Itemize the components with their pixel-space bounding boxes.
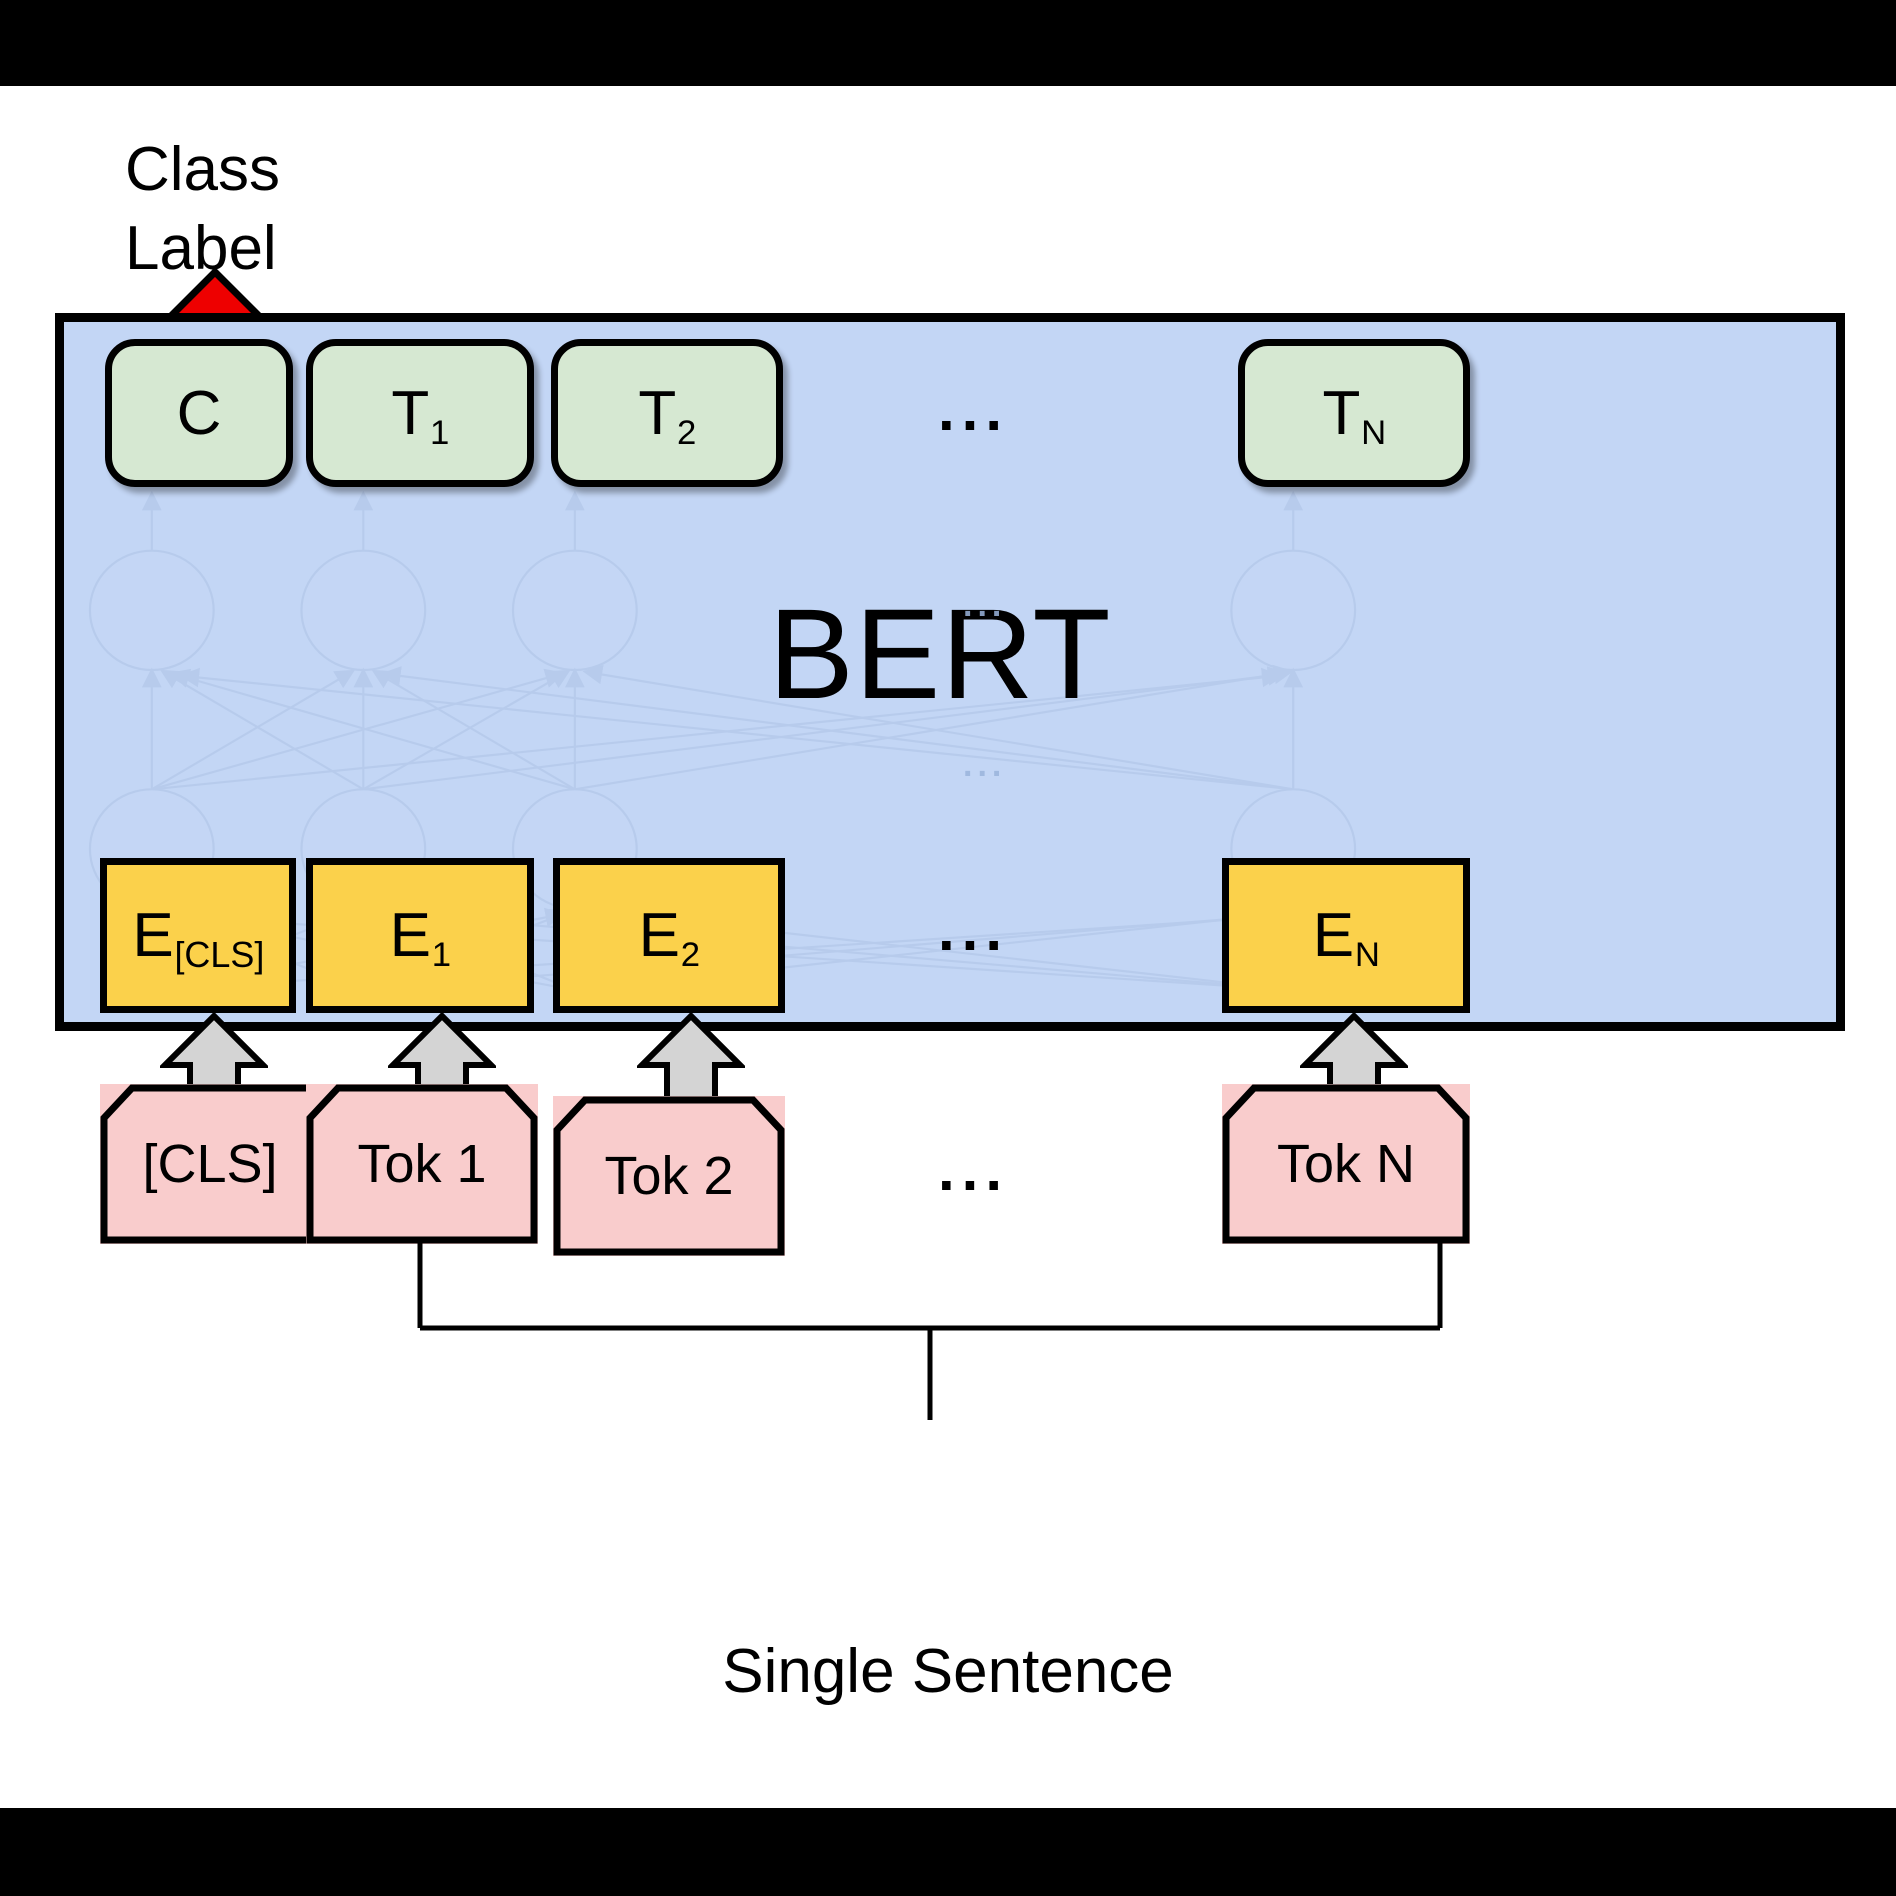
output-token-label: T1 — [391, 378, 448, 449]
input-token-box-tokn[interactable]: Tok N — [1222, 1084, 1470, 1244]
input-token-label: [CLS] — [142, 1133, 277, 1195]
input-row-ellipsis-icon: ... — [938, 1140, 1009, 1200]
output-token-label: C — [177, 378, 222, 449]
network-ellipsis-lower-icon: ... — [963, 748, 1006, 782]
output-token-box-tn[interactable]: TN — [1238, 339, 1470, 487]
output-token-box-t2[interactable]: T2 — [551, 339, 783, 487]
input-token-box-cls[interactable]: [CLS] — [100, 1084, 320, 1244]
grey-up-arrow-icon — [637, 1013, 745, 1103]
figure-canvas: Class Label — [0, 0, 1896, 1896]
embedding-box-1[interactable]: E1 — [306, 858, 534, 1013]
output-token-label: TN — [1323, 378, 1386, 449]
input-token-label: Tok 2 — [604, 1145, 733, 1207]
embedding-label: E[CLS] — [132, 900, 263, 971]
embedding-box-n[interactable]: EN — [1222, 858, 1470, 1013]
output-token-box-t1[interactable]: T1 — [306, 339, 534, 487]
embedding-label: E2 — [639, 900, 700, 971]
embedding-box-cls[interactable]: E[CLS] — [100, 858, 296, 1013]
output-row-ellipsis-icon: ... — [938, 380, 1009, 440]
class-label-text: Class Label — [125, 130, 545, 289]
embedding-box-2[interactable]: E2 — [553, 858, 785, 1013]
output-token-label: T2 — [638, 378, 695, 449]
output-token-box-c[interactable]: C — [105, 339, 293, 487]
input-token-label: Tok 1 — [357, 1133, 486, 1195]
input-token-label: Tok N — [1277, 1133, 1415, 1195]
network-ellipsis-upper-icon: ... — [963, 588, 1006, 622]
embedding-label: E1 — [390, 900, 451, 971]
single-sentence-caption: Single Sentence — [0, 1636, 1896, 1707]
embedding-row-ellipsis-icon: ... — [938, 900, 1009, 960]
input-token-box-tok1[interactable]: Tok 1 — [306, 1084, 538, 1244]
sentence-bracket-connector — [380, 1230, 1480, 1520]
embedding-label: EN — [1313, 900, 1379, 971]
